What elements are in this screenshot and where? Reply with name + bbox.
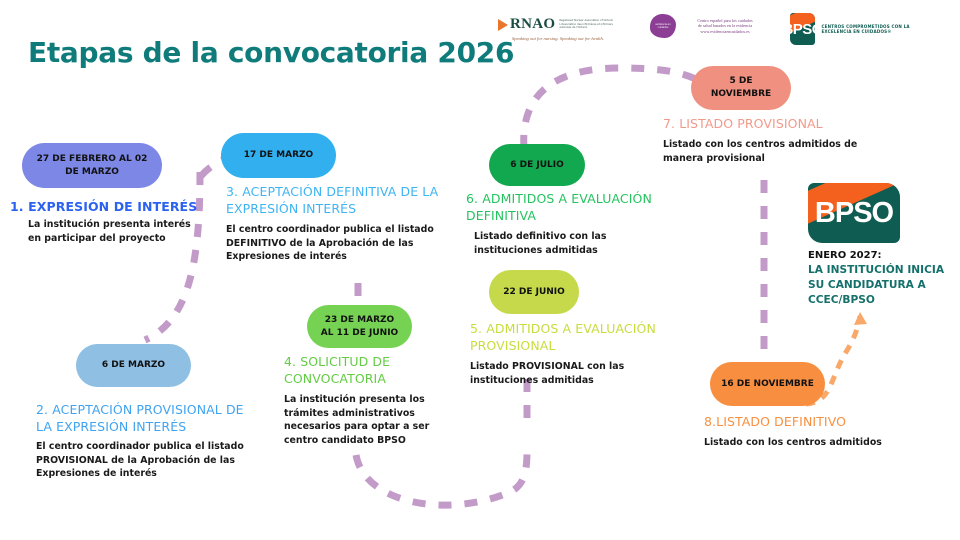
step-6-desc: Listado definitivo con las instituciones… xyxy=(466,230,661,257)
step-1-title: 1. EXPRESIÓN DE INTERÉS xyxy=(10,198,205,215)
infographic-canvas: Etapas de la convocatoria 2026 RNAO Regi… xyxy=(0,0,960,540)
step-8-title: 8.LISTADO DEFINITIVO xyxy=(704,413,904,430)
step-3-desc: El centro coordinador publica el listado… xyxy=(226,223,456,264)
outcome-line-2: SU CANDIDATURA A xyxy=(808,278,948,293)
cecbe-blob-text: evidencia en cuidados xyxy=(653,23,673,29)
step-1-desc: La institución presenta interés en parti… xyxy=(10,218,205,245)
step-7: 7. LISTADO PROVISIONAL Listado con los c… xyxy=(663,115,893,165)
pill-step-8[interactable]: 16 DE NOVIEMBRE xyxy=(710,362,825,406)
step-8-desc: Listado con los centros admitidos xyxy=(704,436,904,450)
pill-step-5[interactable]: 22 DE JUNIO xyxy=(489,270,579,314)
step-6: 6. ADMITIDOS A EVALUACIÓN DEFINITIVA Lis… xyxy=(466,190,661,257)
arrow-head-icon xyxy=(854,312,867,325)
step-3: 3. ACEPTACIÓN DEFINITIVA DE LA EXPRESIÓN… xyxy=(226,183,456,264)
cecbe-text: Centro español para los cuidados de salu… xyxy=(682,18,768,34)
step-7-desc: Listado con los centros admitidos de man… xyxy=(663,138,893,165)
step-4-desc: La institución presenta los trámites adm… xyxy=(284,393,459,447)
outcome-bpso-logo: BPSO xyxy=(808,183,900,243)
step-7-title: 7. LISTADO PROVISIONAL xyxy=(663,115,893,132)
step-5-desc: Listado PROVISIONAL con las institucione… xyxy=(470,360,675,387)
rnao-subtitle: Registered Nurses' Association of Ontari… xyxy=(559,19,621,29)
step-5-title: 5. ADMITIDOS A EVALUACIÓN PROVISIONAL xyxy=(470,320,675,354)
connector-4 xyxy=(356,450,527,505)
pill-step-4[interactable]: 23 DE MARZO AL 11 DE JUNIO xyxy=(307,305,412,348)
cecbe-logo: evidencia en cuidados Centro español par… xyxy=(650,14,768,38)
bpso-mark-icon: BPSO xyxy=(790,13,815,45)
outcome-line-1: LA INSTITUCIÓN INICIA xyxy=(808,263,948,278)
step-8: 8.LISTADO DEFINITIVO Listado con los cen… xyxy=(704,413,904,450)
cecbe-blob-icon: evidencia en cuidados xyxy=(650,14,676,38)
cecbe-line-3: www.evidenciaencuidados.es xyxy=(682,29,768,34)
rnao-wordmark: RNAO xyxy=(510,16,555,33)
step-1: 1. EXPRESIÓN DE INTERÉS La institución p… xyxy=(10,198,205,245)
step-5: 5. ADMITIDOS A EVALUACIÓN PROVISIONAL Li… xyxy=(470,320,675,387)
step-4: 4. SOLICITUD DE CONVOCATORIA La instituc… xyxy=(284,353,459,447)
outcome-line-3: CCEC/BPSO xyxy=(808,293,948,308)
outcome-caption: ENERO 2027: LA INSTITUCIÓN INICIA SU CAN… xyxy=(808,248,948,308)
pill-step-6[interactable]: 6 DE JULIO xyxy=(489,144,585,186)
bpso-logo: BPSO CENTROS COMPROMETIDOS CON LA EXCELE… xyxy=(790,13,910,45)
step-2: 2. ACEPTACIÓN PROVISIONAL DE LA EXPRESIÓ… xyxy=(36,401,261,481)
step-2-title: 2. ACEPTACIÓN PROVISIONAL DE LA EXPRESIÓ… xyxy=(36,401,261,435)
rnao-logo: RNAO Registered Nurses' Association of O… xyxy=(498,16,621,33)
step-6-title: 6. ADMITIDOS A EVALUACIÓN DEFINITIVA xyxy=(466,190,661,224)
step-2-desc: El centro coordinador publica el listado… xyxy=(36,440,261,481)
step-4-title: 4. SOLICITUD DE CONVOCATORIA xyxy=(284,353,459,387)
pill-step-3[interactable]: 17 DE MARZO xyxy=(221,133,336,178)
rnao-tagline: Speaking out for nursing. Speaking out f… xyxy=(512,36,604,41)
outcome-date: ENERO 2027: xyxy=(808,248,948,263)
outcome-bpso-letters: BPSO xyxy=(815,197,893,230)
outcome-bpso-mark-icon: BPSO xyxy=(808,183,900,243)
page-title: Etapas de la convocatoria 2026 xyxy=(28,36,514,69)
bpso-claim: CENTROS COMPROMETIDOS CON LA EXCELENCIA … xyxy=(821,24,910,34)
pill-step-7[interactable]: 5 DE NOVIEMBRE xyxy=(691,66,791,110)
pill-step-1[interactable]: 27 DE FEBRERO AL 02 DE MARZO xyxy=(22,143,162,188)
logo-row: RNAO Registered Nurses' Association of O… xyxy=(490,10,910,52)
rnao-arrow-icon xyxy=(498,19,508,31)
pill-step-2[interactable]: 6 DE MARZO xyxy=(76,344,191,387)
bpso-letters: BPSO xyxy=(790,21,815,38)
step-3-title: 3. ACEPTACIÓN DEFINITIVA DE LA EXPRESIÓN… xyxy=(226,183,456,217)
